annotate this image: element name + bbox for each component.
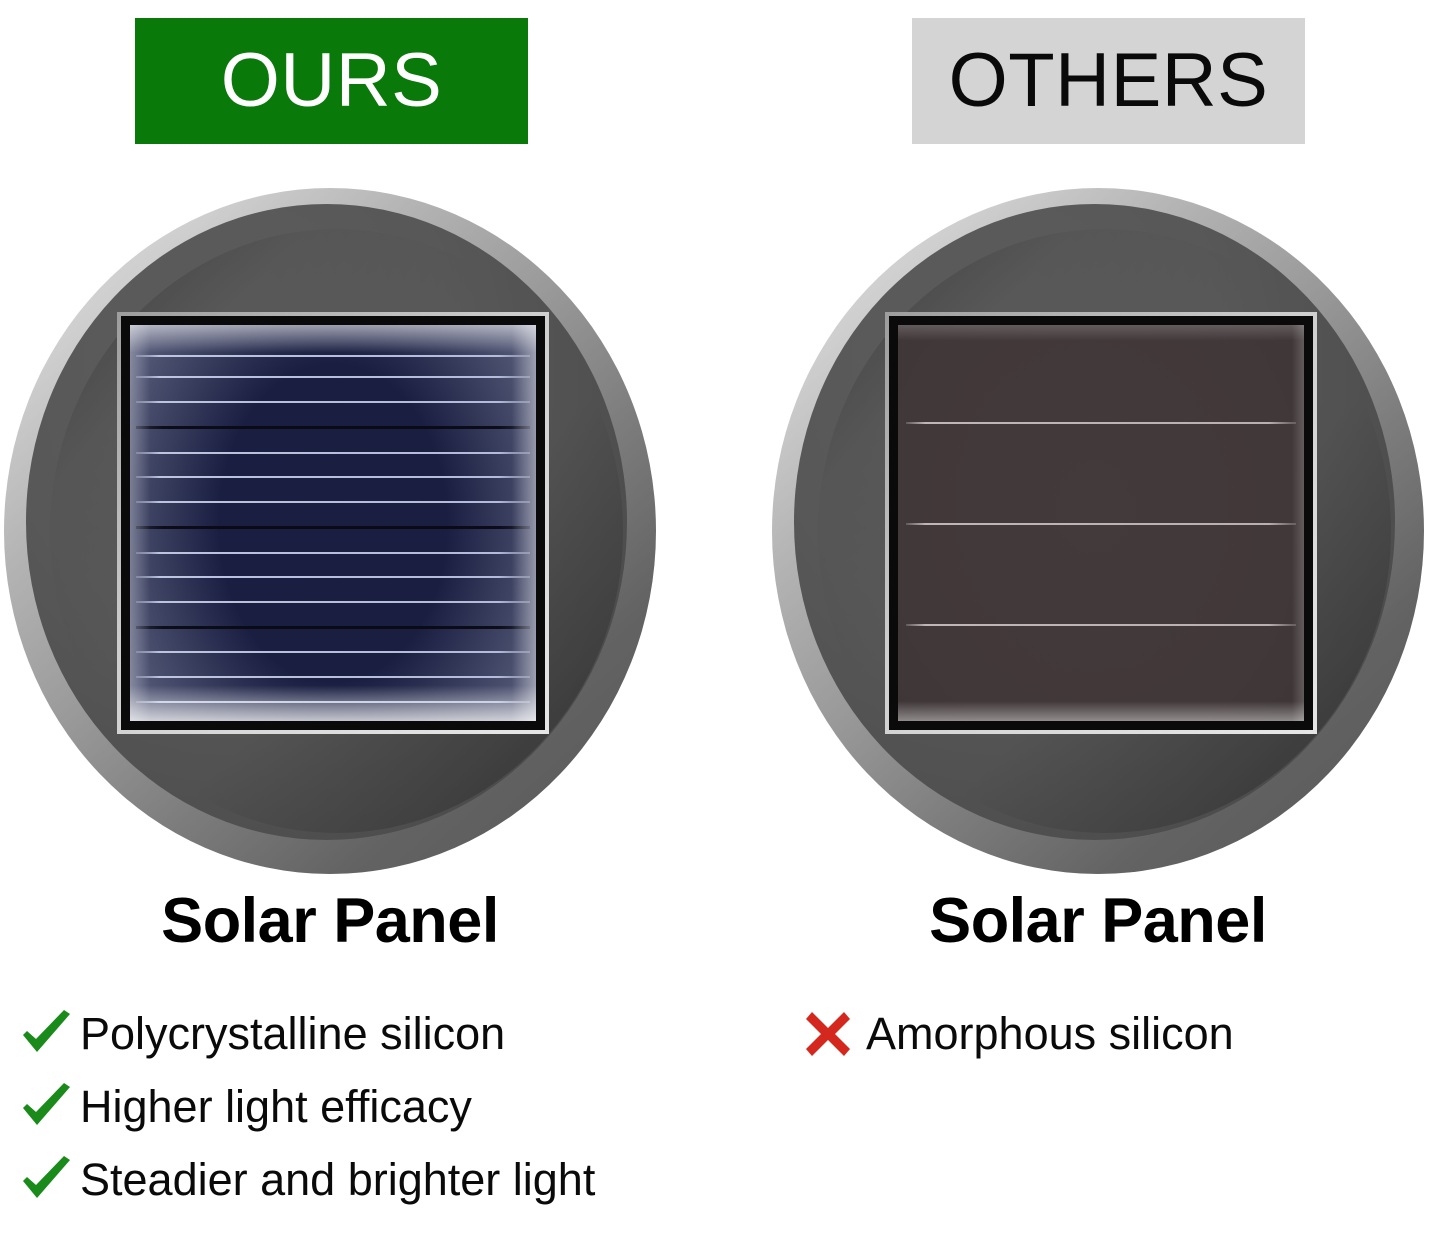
cell-grid-line [136,701,530,703]
list-item: Steadier and brighter light [18,1143,595,1216]
cell-bus-line [136,426,530,429]
check-icon [18,1006,74,1062]
polycrystalline-solar-cell [130,325,536,721]
amorphous-solar-cell [898,325,1304,721]
cell-bus-line [136,526,530,529]
cross-icon [800,1006,856,1062]
cell-grid-line [906,624,1296,626]
cell-grid-line [136,501,530,503]
cell-grid-line [906,523,1296,525]
ours-label-text: OURS [221,43,443,119]
left-feature-list: Polycrystalline silicon Higher light eff… [18,997,595,1216]
cell-bus-line [136,626,530,629]
list-item-label: Steadier and brighter light [80,1157,595,1202]
right-feature-list: Amorphous silicon [800,997,1234,1070]
cell-grid-line [136,452,530,454]
check-icon [18,1152,74,1208]
list-item: Polycrystalline silicon [18,997,595,1070]
left-product-caption: Solar Panel [4,890,656,953]
cell-grid-line [136,552,530,554]
cell-grid-line [136,601,530,603]
list-item-label: Polycrystalline silicon [80,1011,505,1056]
ours-label-chip: OURS [135,18,528,144]
cell-grid-line [136,401,530,403]
cell-grid-line [136,651,530,653]
cell-grid-line [136,476,530,478]
left-solar-lamp-disc [4,188,656,874]
right-panel-housing [885,312,1317,734]
list-item-label: Higher light efficacy [80,1084,472,1129]
check-icon [18,1079,74,1135]
others-label-chip: OTHERS [912,18,1305,144]
cell-grid-line [906,422,1296,424]
cell-grid-line [136,376,530,378]
right-solar-lamp-disc [772,188,1424,874]
list-item: Higher light efficacy [18,1070,595,1143]
left-panel-housing [117,312,549,734]
right-panel-bezel [889,316,1313,730]
cell-grid-line [136,355,530,357]
list-item-label: Amorphous silicon [866,1011,1234,1056]
right-product-caption: Solar Panel [772,890,1424,953]
list-item: Amorphous silicon [800,997,1234,1070]
cell-grid-line [136,676,530,678]
cell-grid-line [136,576,530,578]
others-label-text: OTHERS [949,43,1269,119]
left-panel-bezel [121,316,545,730]
